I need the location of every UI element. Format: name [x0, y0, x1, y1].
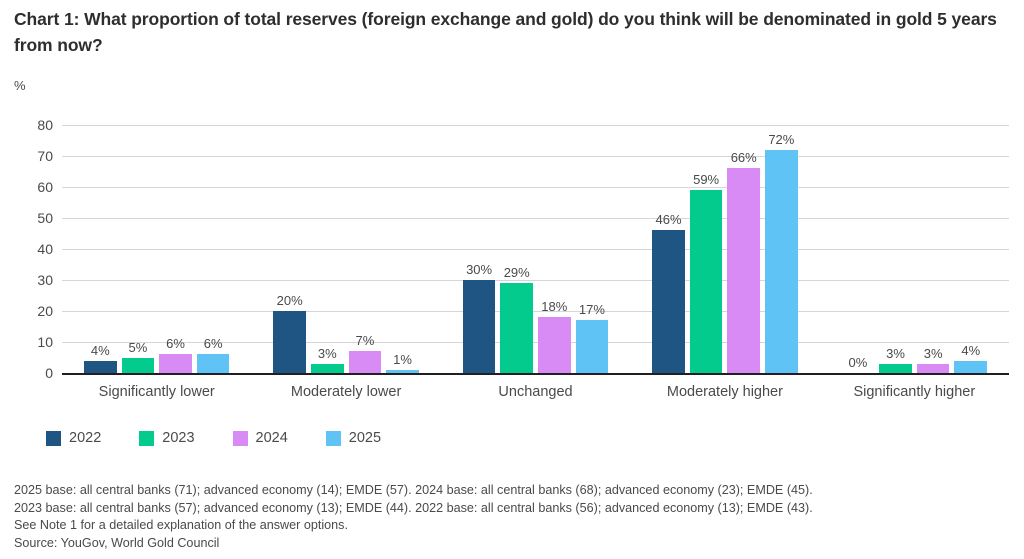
legend-swatch-icon [139, 431, 154, 446]
bar-value-label: 29% [504, 265, 530, 280]
bar-2023-unchanged[interactable]: 29% [500, 125, 533, 373]
category-label-significantly-higher: Significantly higher [820, 384, 1009, 400]
bar-2022-unchanged[interactable]: 30% [463, 125, 496, 373]
y-tick-label-20: 20 [37, 303, 53, 319]
y-tick-label-30: 30 [37, 272, 53, 288]
legend-swatch-icon [326, 431, 341, 446]
y-tick-label-60: 60 [37, 179, 53, 195]
footnote-line: Source: YouGov, World Gold Council [14, 535, 1009, 553]
legend-item-2025[interactable]: 2025 [326, 430, 381, 446]
bar-group: 20%3%7%1% [251, 125, 440, 373]
bar-rect[interactable] [311, 364, 344, 373]
bar-rect[interactable] [576, 320, 609, 373]
bar-2023-significantly-higher[interactable]: 3% [879, 125, 912, 373]
category-label-significantly-lower: Significantly lower [62, 384, 251, 400]
category-label-moderately-lower: Moderately lower [251, 384, 440, 400]
bar-rect[interactable] [727, 168, 760, 373]
category-label-moderately-higher: Moderately higher [630, 384, 819, 400]
bar-group: 30%29%18%17% [441, 125, 630, 373]
bar-rect[interactable] [197, 354, 230, 373]
footnote-line: 2025 base: all central banks (71); advan… [14, 482, 1009, 500]
bar-value-label: 3% [924, 346, 943, 361]
gridline-0: 0 [62, 373, 1009, 375]
bar-rect[interactable] [917, 364, 950, 373]
bar-2022-significantly-lower[interactable]: 4% [84, 125, 117, 373]
bar-value-label: 17% [579, 302, 605, 317]
category-axis-labels: Significantly lowerModerately lowerUncha… [62, 384, 1009, 400]
plot-area: 01020304050607080 4%5%6%6%20%3%7%1%30%29… [62, 125, 1009, 373]
legend-item-2022[interactable]: 2022 [46, 430, 101, 446]
bar-2025-significantly-lower[interactable]: 6% [197, 125, 230, 373]
bar-rect[interactable] [500, 283, 533, 373]
chart-legend: 2022202320242025 [46, 430, 381, 446]
legend-label: 2022 [69, 430, 101, 446]
legend-swatch-icon [46, 431, 61, 446]
legend-label: 2024 [256, 430, 288, 446]
bar-value-label: 30% [466, 262, 492, 277]
bar-2023-significantly-lower[interactable]: 5% [122, 125, 155, 373]
bar-group: 4%5%6%6% [62, 125, 251, 373]
bar-value-label: 72% [768, 132, 794, 147]
y-tick-label-10: 10 [37, 334, 53, 350]
bar-2025-moderately-higher[interactable]: 72% [765, 125, 798, 373]
y-tick-label-0: 0 [45, 365, 53, 381]
bar-2023-moderately-higher[interactable]: 59% [690, 125, 723, 373]
bar-rect[interactable] [273, 311, 306, 373]
y-tick-label-50: 50 [37, 210, 53, 226]
bar-rect[interactable] [765, 150, 798, 373]
y-tick-label-70: 70 [37, 148, 53, 164]
bar-2022-moderately-lower[interactable]: 20% [273, 125, 306, 373]
bar-2022-moderately-higher[interactable]: 46% [652, 125, 685, 373]
bar-groups: 4%5%6%6%20%3%7%1%30%29%18%17%46%59%66%72… [62, 125, 1009, 373]
legend-swatch-icon [233, 431, 248, 446]
bar-rect[interactable] [954, 361, 987, 373]
bar-group: 0%3%3%4% [820, 125, 1009, 373]
chart-title: Chart 1: What proportion of total reserv… [14, 6, 1009, 58]
bar-2025-significantly-higher[interactable]: 4% [954, 125, 987, 373]
bar-2022-significantly-higher[interactable]: 0% [842, 125, 875, 373]
bar-2024-significantly-higher[interactable]: 3% [917, 125, 950, 373]
bar-rect[interactable] [122, 358, 155, 374]
y-tick-label-40: 40 [37, 241, 53, 257]
legend-label: 2025 [349, 430, 381, 446]
bar-2024-moderately-higher[interactable]: 66% [727, 125, 760, 373]
y-tick-label-80: 80 [37, 117, 53, 133]
chart-footnotes: 2025 base: all central banks (71); advan… [14, 482, 1009, 552]
bar-value-label: 6% [166, 336, 185, 351]
chart-page: Chart 1: What proportion of total reserv… [0, 0, 1024, 559]
bar-rect[interactable] [690, 190, 723, 373]
bar-rect[interactable] [349, 351, 382, 373]
legend-item-2023[interactable]: 2023 [139, 430, 194, 446]
bar-2024-unchanged[interactable]: 18% [538, 125, 571, 373]
bar-value-label: 4% [91, 343, 110, 358]
bar-value-label: 3% [318, 346, 337, 361]
plot-frame: 01020304050607080 4%5%6%6%20%3%7%1%30%29… [14, 118, 1009, 381]
bar-value-label: 66% [731, 150, 757, 165]
bar-value-label: 1% [393, 352, 412, 367]
bar-value-label: 4% [961, 343, 980, 358]
bar-2025-moderately-lower[interactable]: 1% [386, 125, 419, 373]
bar-value-label: 46% [655, 212, 681, 227]
bar-value-label: 18% [541, 299, 567, 314]
bar-group: 46%59%66%72% [630, 125, 819, 373]
bar-value-label: 59% [693, 172, 719, 187]
bar-rect[interactable] [386, 370, 419, 373]
bar-value-label: 7% [356, 333, 375, 348]
bar-value-label: 0% [849, 355, 868, 370]
bar-value-label: 5% [128, 340, 147, 355]
bar-rect[interactable] [652, 230, 685, 373]
bar-value-label: 6% [204, 336, 223, 351]
bar-2024-significantly-lower[interactable]: 6% [159, 125, 192, 373]
footnote-line: 2023 base: all central banks (57); advan… [14, 500, 1009, 518]
bar-rect[interactable] [879, 364, 912, 373]
bar-rect[interactable] [84, 361, 117, 373]
bar-2025-unchanged[interactable]: 17% [576, 125, 609, 373]
bar-2024-moderately-lower[interactable]: 7% [349, 125, 382, 373]
legend-item-2024[interactable]: 2024 [233, 430, 288, 446]
bar-value-label: 20% [277, 293, 303, 308]
bar-rect[interactable] [463, 280, 496, 373]
footnote-line: See Note 1 for a detailed explanation of… [14, 517, 1009, 535]
bar-rect[interactable] [159, 354, 192, 373]
bar-value-label: 3% [886, 346, 905, 361]
legend-label: 2023 [162, 430, 194, 446]
bar-rect[interactable] [538, 317, 571, 373]
bar-2023-moderately-lower[interactable]: 3% [311, 125, 344, 373]
y-axis-unit-label: % [14, 78, 26, 93]
category-label-unchanged: Unchanged [441, 384, 630, 400]
